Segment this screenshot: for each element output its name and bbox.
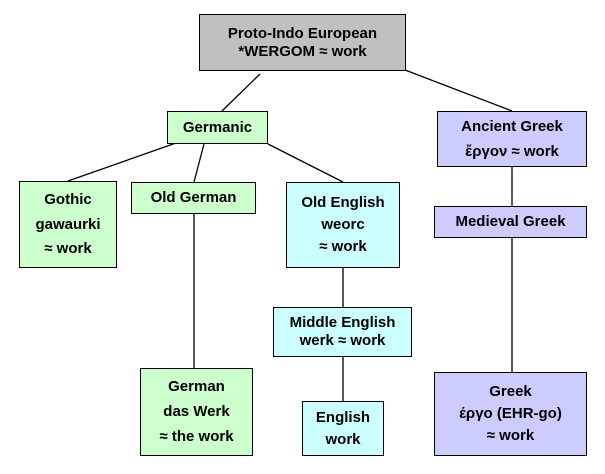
edge-pie-germanic	[222, 74, 260, 111]
node-line: work	[321, 432, 364, 448]
node-line: werk ≈ work	[296, 333, 390, 349]
node-germanic: Germanic	[167, 111, 268, 144]
node-proto-indo-european: Proto-Indo European *WERGOM ≈ work	[199, 14, 406, 71]
edge-pie-ancient-greek	[405, 70, 512, 111]
node-german: German das Werk ≈ the work	[140, 368, 253, 456]
node-medieval-greek: Medieval Greek	[434, 206, 587, 238]
node-middle-english: Middle English werk ≈ work	[273, 307, 412, 357]
node-line: ἔργον ≈ work	[461, 144, 563, 160]
node-line: Old German	[147, 190, 241, 206]
node-gothic: Gothic gawaurki ≈ work	[19, 181, 117, 268]
node-line: Medieval Greek	[451, 214, 569, 230]
node-line: weorc	[317, 217, 368, 233]
node-line: ≈ the work	[155, 429, 237, 445]
node-line: German	[164, 379, 229, 395]
node-line: Old English	[297, 195, 388, 211]
node-line: έργο (EHR-go)	[455, 406, 566, 422]
node-line: Gothic	[40, 192, 96, 208]
node-english: English work	[302, 401, 384, 456]
etymology-diagram: Proto-Indo European *WERGOM ≈ work Germa…	[0, 0, 605, 474]
node-greek: Greek έργο (EHR-go) ≈ work	[434, 372, 587, 456]
node-line: ≈ work	[40, 241, 95, 257]
edge-germanic-old-english	[268, 144, 343, 182]
node-line: English	[312, 410, 374, 426]
node-line: Greek	[485, 384, 536, 400]
edge-germanic-gothic	[68, 143, 176, 181]
node-line: Ancient Greek	[457, 119, 567, 135]
node-line: das Werk	[159, 404, 233, 420]
node-line: ≈ work	[315, 239, 370, 255]
node-line: Middle English	[286, 315, 400, 331]
node-old-english: Old English weorc ≈ work	[286, 182, 400, 268]
edge-germanic-old-german	[194, 144, 204, 182]
node-line: Proto-Indo European	[224, 26, 381, 42]
node-old-german: Old German	[131, 182, 256, 214]
node-line: ≈ work	[483, 428, 538, 444]
node-ancient-greek: Ancient Greek ἔργον ≈ work	[437, 111, 587, 167]
node-line: gawaurki	[31, 217, 104, 233]
node-line: Germanic	[179, 120, 256, 136]
node-line: *WERGOM ≈ work	[234, 44, 370, 60]
